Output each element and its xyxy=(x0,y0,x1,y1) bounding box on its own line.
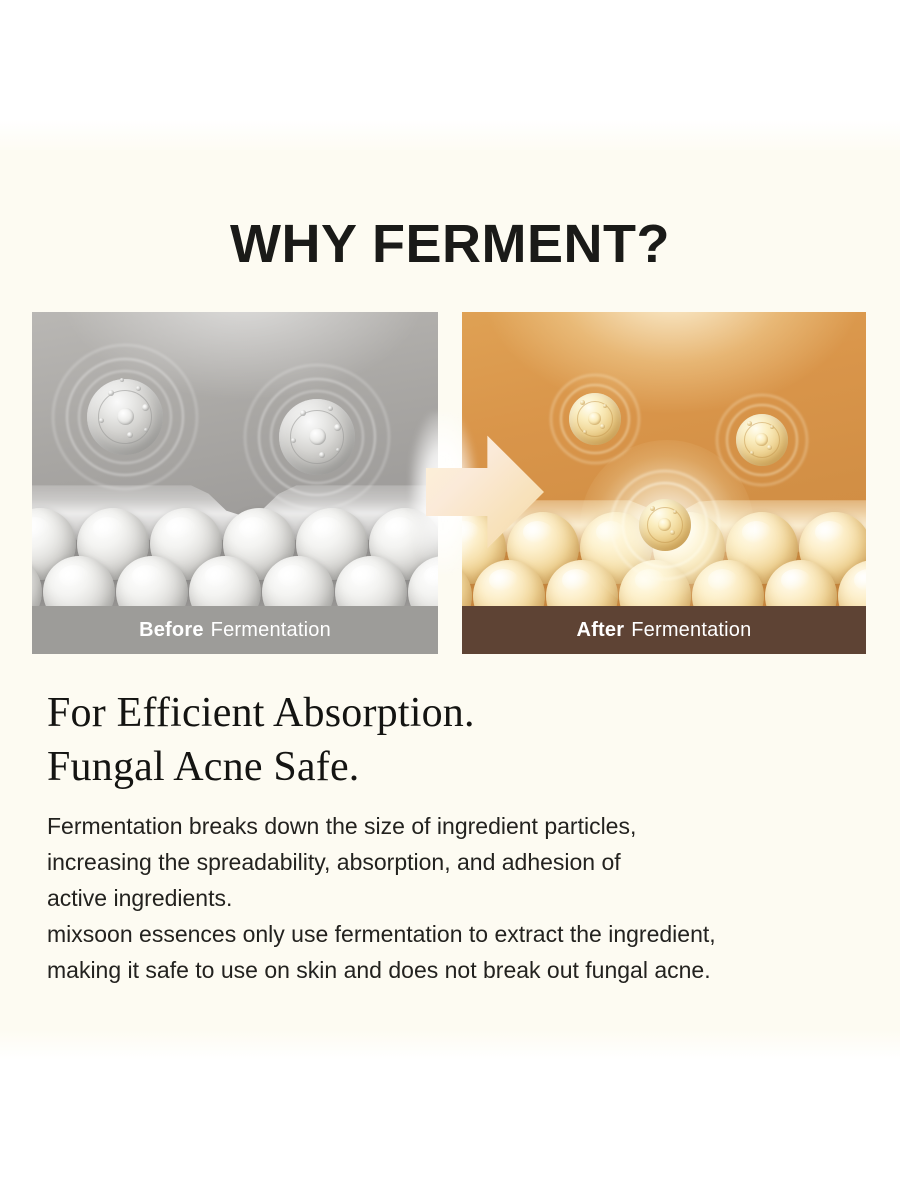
before-caption-strong: Before xyxy=(139,619,204,642)
content-band-fade-top xyxy=(0,120,900,154)
headline: For Efficient Absorption. Fungal Acne Sa… xyxy=(47,686,847,794)
content-band-fade-bottom xyxy=(0,1030,900,1060)
body-p2-line-2: making it safe to use on skin and does n… xyxy=(47,957,711,983)
transition-arrow xyxy=(404,418,544,568)
after-caption-bar: After Fermentation xyxy=(462,606,866,654)
before-pearl-row-bottom xyxy=(32,556,438,606)
body-p2-line-1: mixsoon essences only use fermentation t… xyxy=(47,921,716,947)
body-p1-line-3: active ingredients. xyxy=(47,885,232,911)
headline-line-2: Fungal Acne Safe. xyxy=(47,740,847,794)
body-paragraph-2: mixsoon essences only use fermentation t… xyxy=(47,916,857,988)
body-paragraph-1: Fermentation breaks down the size of ing… xyxy=(47,808,857,916)
before-fermentation-image xyxy=(32,312,438,606)
after-caption-strong: After xyxy=(577,619,625,642)
before-caption-normal: Fermentation xyxy=(211,619,331,642)
body-p1-line-1: Fermentation breaks down the size of ing… xyxy=(47,813,636,839)
before-caption-bar: Before Fermentation xyxy=(32,606,438,654)
body-copy: Fermentation breaks down the size of ing… xyxy=(47,808,857,988)
after-caption-normal: Fermentation xyxy=(631,619,751,642)
headline-line-1: For Efficient Absorption. xyxy=(47,686,847,740)
body-p1-line-2: increasing the spreadability, absorption… xyxy=(47,849,621,875)
page-title: WHY FERMENT? xyxy=(0,213,900,275)
infographic-page: WHY FERMENT? xyxy=(0,0,900,1199)
